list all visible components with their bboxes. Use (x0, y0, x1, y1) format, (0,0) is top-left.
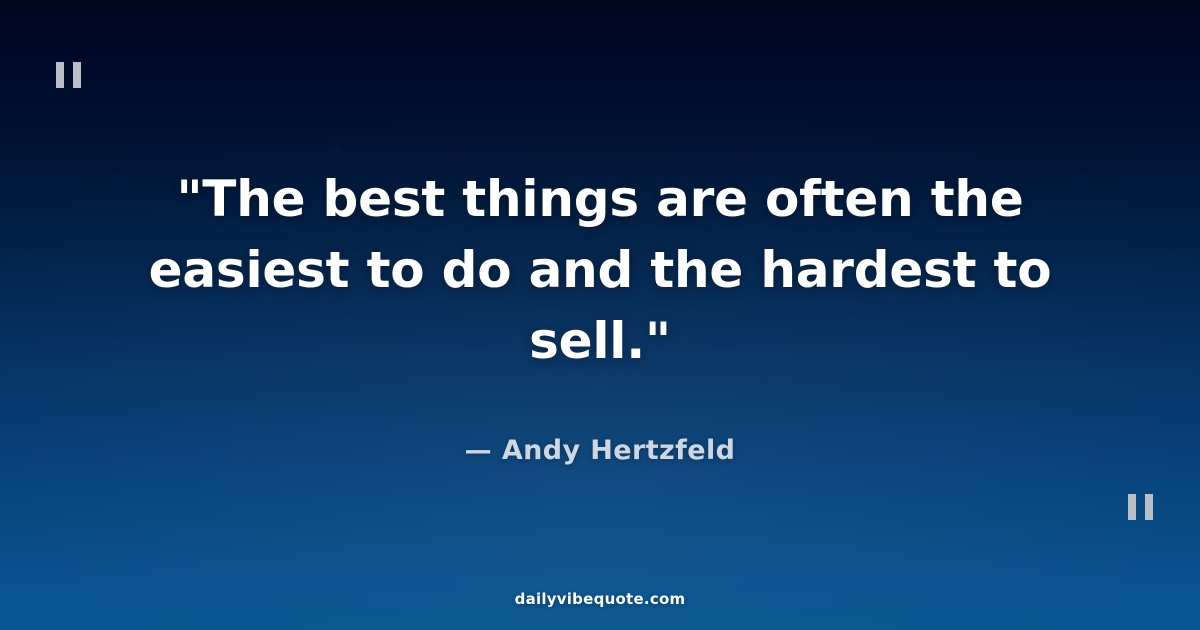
footer: dailyvibequote.com (0, 589, 1200, 608)
quote-card: "The best things are often the easiest t… (0, 0, 1200, 630)
quote-content: "The best things are often the easiest t… (0, 0, 1200, 630)
site-url: dailyvibequote.com (515, 590, 686, 608)
quote-text: "The best things are often the easiest t… (70, 164, 1130, 377)
quote-attribution: — Andy Hertzfeld (465, 435, 736, 466)
